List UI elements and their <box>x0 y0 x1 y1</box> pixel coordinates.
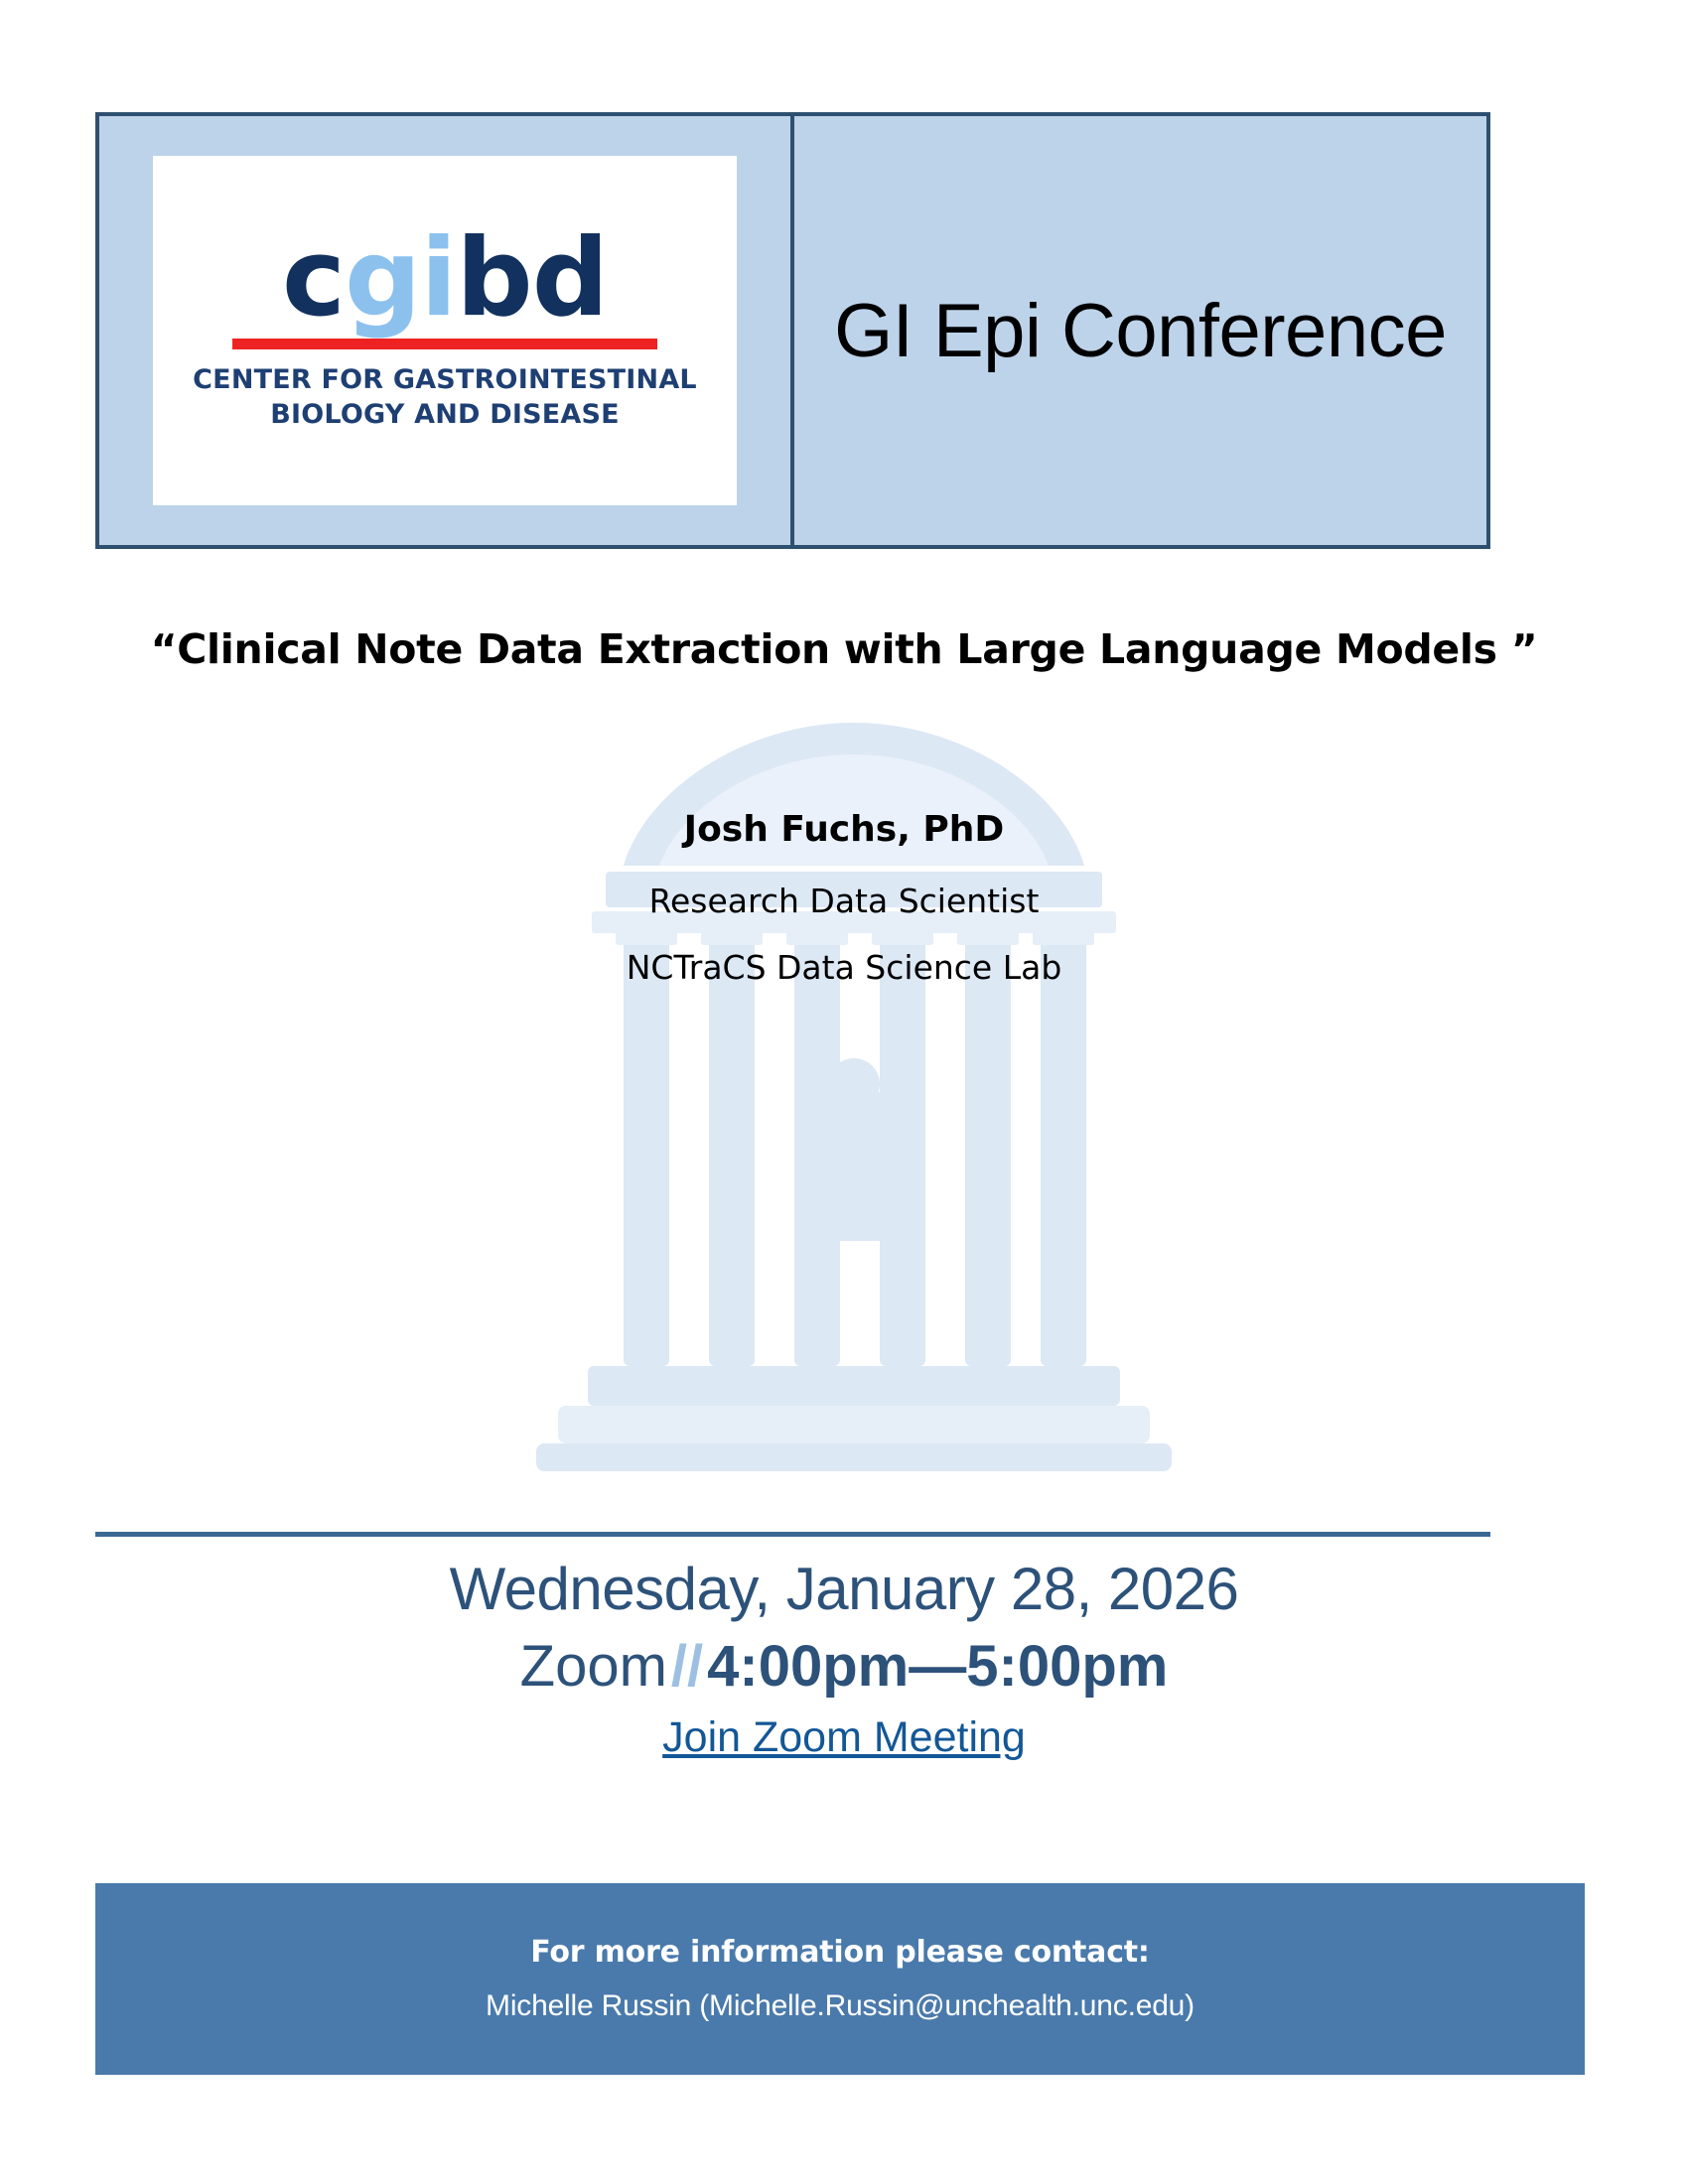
logo-tagline-line1: CENTER FOR GASTROINTESTINAL <box>193 363 697 398</box>
flyer-page: cgibd CENTER FOR GASTROINTESTINAL BIOLOG… <box>0 0 1688 2184</box>
speaker-name: Josh Fuchs, PhD <box>0 809 1688 850</box>
talk-title: “Clinical Note Data Extraction with Larg… <box>0 625 1688 673</box>
event-time: 4:00pm—5:00pm <box>707 1634 1168 1699</box>
logo-red-rule <box>232 339 657 349</box>
speaker-role: Research Data Scientist <box>0 882 1688 920</box>
event-platform: Zoom <box>520 1634 667 1699</box>
event-date: Wednesday, January 28, 2026 <box>0 1555 1688 1623</box>
footer-contact: Michelle Russin (Michelle.Russin@uncheal… <box>486 1989 1195 2023</box>
cgibd-wordmark: cgibd <box>282 225 608 333</box>
event-separator: // <box>667 1634 707 1699</box>
speaker-affiliation: NCTraCS Data Science Lab <box>0 948 1688 987</box>
footer-heading: For more information please contact: <box>530 1935 1149 1970</box>
event-location-time: Zoom//4:00pm—5:00pm <box>0 1633 1688 1700</box>
section-divider <box>95 1532 1490 1537</box>
speaker-block: Josh Fuchs, PhD Research Data Scientist … <box>0 809 1688 987</box>
contact-footer: For more information please contact: Mic… <box>95 1883 1585 2075</box>
logo-cell: cgibd CENTER FOR GASTROINTESTINAL BIOLOG… <box>99 116 794 545</box>
cgibd-logo: cgibd CENTER FOR GASTROINTESTINAL BIOLOG… <box>153 156 737 505</box>
header-banner: cgibd CENTER FOR GASTROINTESTINAL BIOLOG… <box>95 112 1490 549</box>
event-details: Wednesday, January 28, 2026 Zoom//4:00pm… <box>0 1555 1688 1762</box>
header-title-cell: GI Epi Conference <box>794 116 1486 545</box>
join-zoom-meeting-link[interactable]: Join Zoom Meeting <box>662 1713 1026 1762</box>
logo-tagline: CENTER FOR GASTROINTESTINAL BIOLOGY AND … <box>193 363 697 432</box>
conference-title: GI Epi Conference <box>834 288 1447 374</box>
logo-tagline-line2: BIOLOGY AND DISEASE <box>193 398 697 433</box>
